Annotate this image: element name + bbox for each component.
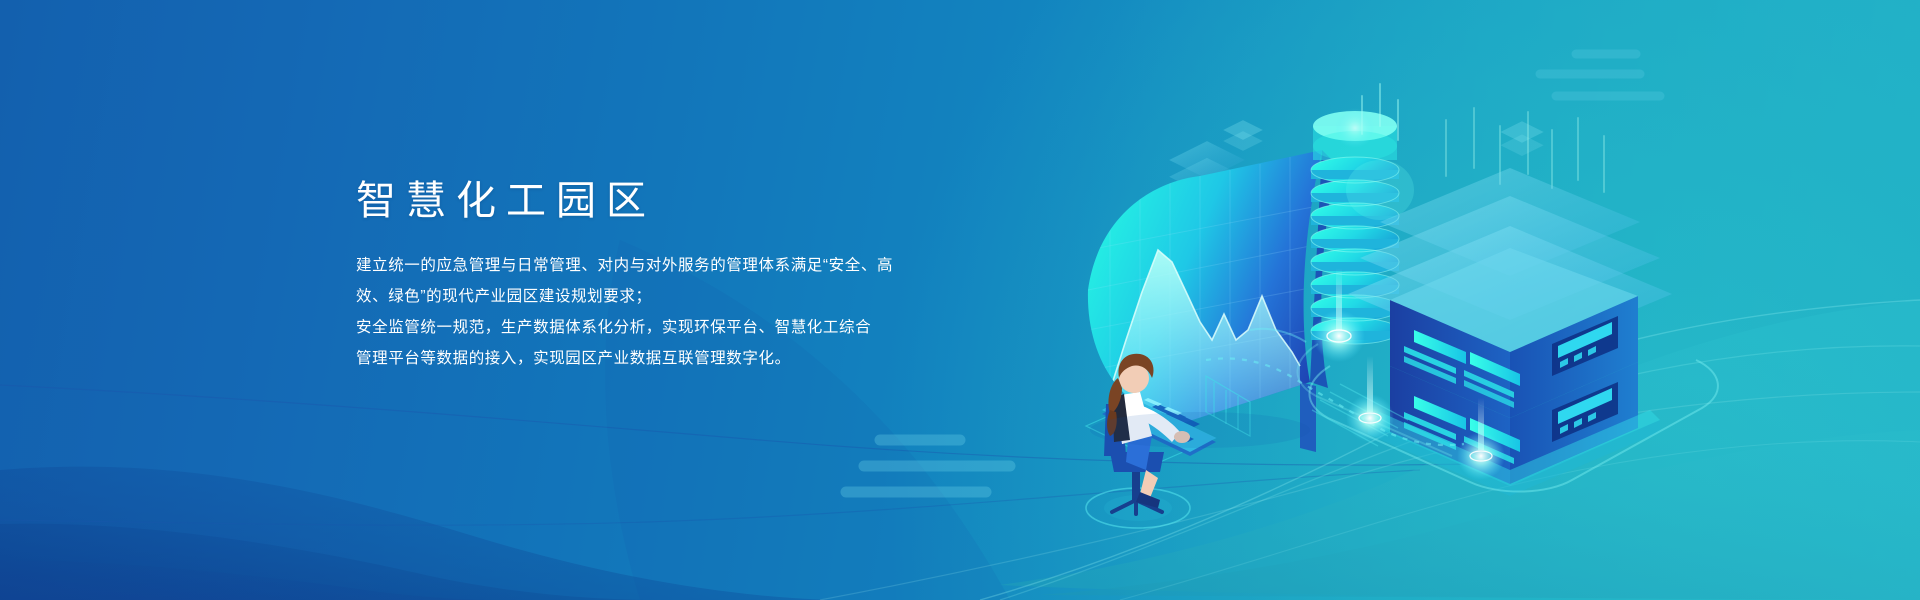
glowing-data-nodes bbox=[1313, 108, 1505, 480]
operator-person-at-keyboard bbox=[1086, 354, 1190, 528]
area-chart-on-screen bbox=[1088, 157, 1318, 426]
stacked-data-cylinder-tower bbox=[1311, 111, 1414, 344]
glow-node-tower-top bbox=[1335, 108, 1375, 148]
hero-description: 建立统一的应急管理与日常管理、对内与对外服务的管理体系满足“安全、高 效、绿色”… bbox=[356, 250, 1056, 374]
description-line-2: 效、绿色”的现代产业园区建设规划要求； bbox=[356, 281, 1056, 312]
cloud-layer-icon-right bbox=[1500, 121, 1543, 156]
desk-grid-plinth bbox=[1086, 376, 1250, 462]
glow-node-left bbox=[1313, 268, 1365, 362]
curved-dashboard-screen bbox=[1088, 150, 1336, 452]
rack-led-bars-upper bbox=[1404, 330, 1520, 408]
rack-side-display-upper bbox=[1552, 316, 1618, 376]
description-line-1: 建立统一的应急管理与日常管理、对内与对外服务的管理体系满足“安全、高 bbox=[356, 250, 1056, 281]
banner-hero: 智慧化工园区 建立统一的应急管理与日常管理、对内与对外服务的管理体系满足“安全、… bbox=[0, 0, 1920, 600]
floating-slabs bbox=[1348, 168, 1672, 362]
server-rack-upper bbox=[1390, 248, 1638, 418]
keyboard bbox=[1102, 396, 1216, 456]
cloud-layer-icon-small bbox=[1223, 120, 1263, 151]
glow-node-right bbox=[1457, 398, 1505, 480]
cloud-layer-icon bbox=[1169, 141, 1245, 212]
cylinder-slices bbox=[1311, 157, 1399, 344]
rack-side-display-lower bbox=[1552, 382, 1618, 442]
hero-copy: 智慧化工园区 建立统一的应急管理与日常管理、对内与对外服务的管理体系满足“安全、… bbox=[356, 178, 1056, 374]
description-line-4: 管理平台等数据的接入，实现园区产业数据互联管理数字化。 bbox=[356, 343, 1056, 374]
rack-led-bars-lower bbox=[1404, 396, 1520, 464]
falling-data-streams bbox=[1362, 84, 1604, 192]
page-title: 智慧化工园区 bbox=[356, 178, 1056, 224]
glow-node-mid bbox=[1346, 356, 1394, 442]
description-line-3: 安全监管统一规范，生产数据体系化分析，实现环保平台、智慧化工综合 bbox=[356, 312, 1056, 343]
server-rack-lower bbox=[1368, 362, 1660, 496]
platform-cable-paths bbox=[1206, 329, 1718, 492]
screen-base-shadow bbox=[1090, 412, 1310, 448]
